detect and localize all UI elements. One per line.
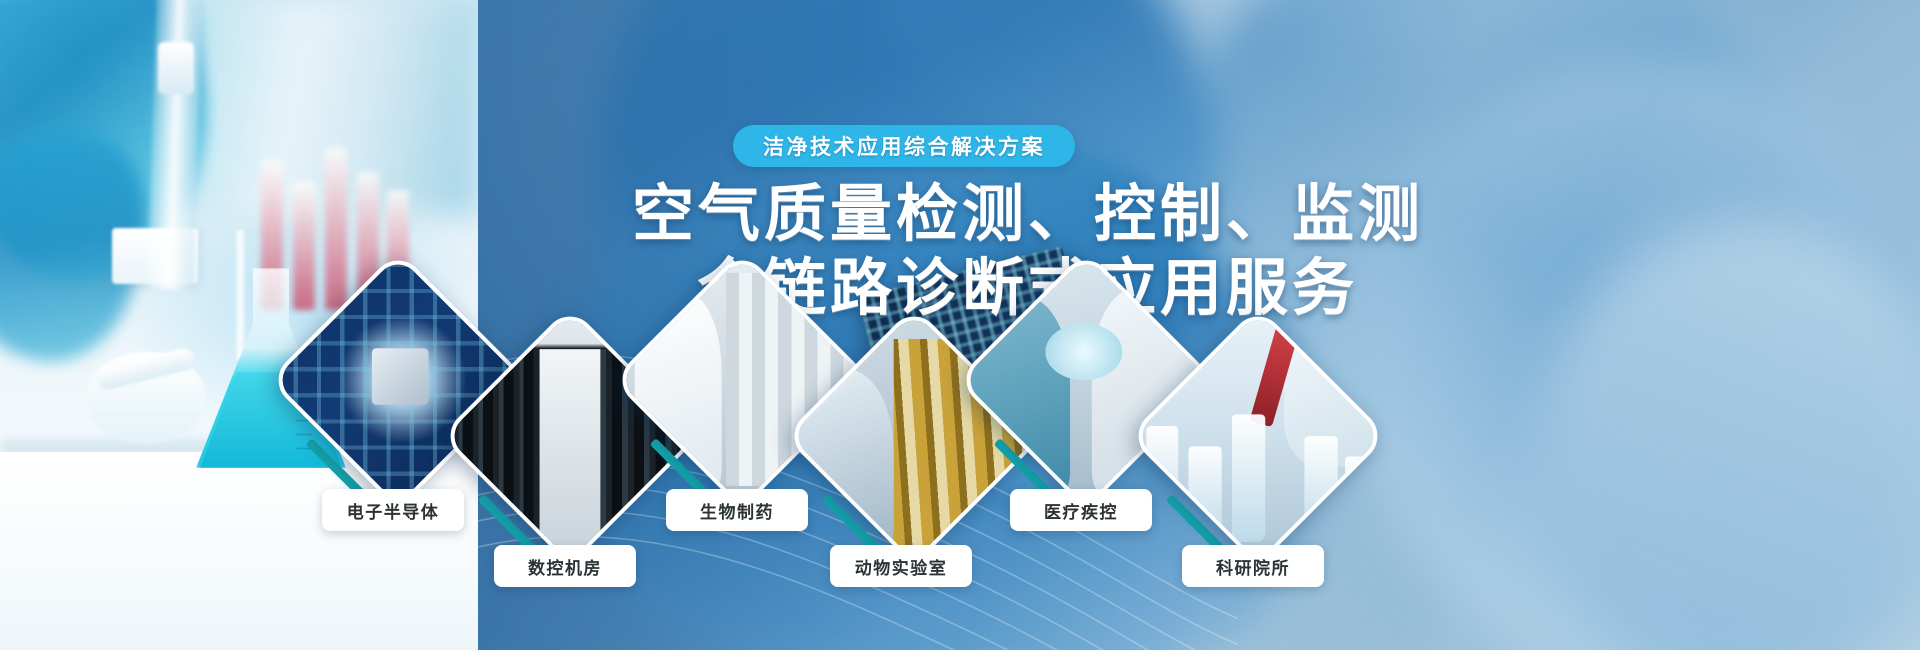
server-aisle xyxy=(539,349,600,558)
petri-dish xyxy=(1045,323,1122,379)
card-label-data-center: 数控机房 xyxy=(494,545,636,587)
hero-banner: 洁净技术应用综合解决方案 空气质量检测、控制、监测 全链路诊断式应用服务 电子半… xyxy=(0,0,1920,650)
research-institute-lab-photo xyxy=(1130,306,1385,558)
chip-die xyxy=(372,349,428,405)
card-label-animal-lab: 动物实验室 xyxy=(830,545,972,587)
card-label-medical: 医疗疾控 xyxy=(1010,489,1152,531)
card-label-biopharma: 生物制药 xyxy=(666,489,808,531)
card-label-research: 科研院所 xyxy=(1182,545,1324,587)
card-label-semiconductor: 电子半导体 xyxy=(322,489,464,531)
card-diamond-frame xyxy=(1128,306,1388,566)
industry-card-research[interactable]: 科研院所 xyxy=(1166,344,1342,520)
industry-card-list: 电子半导体 数控机房 生物制药 xyxy=(0,0,1920,650)
